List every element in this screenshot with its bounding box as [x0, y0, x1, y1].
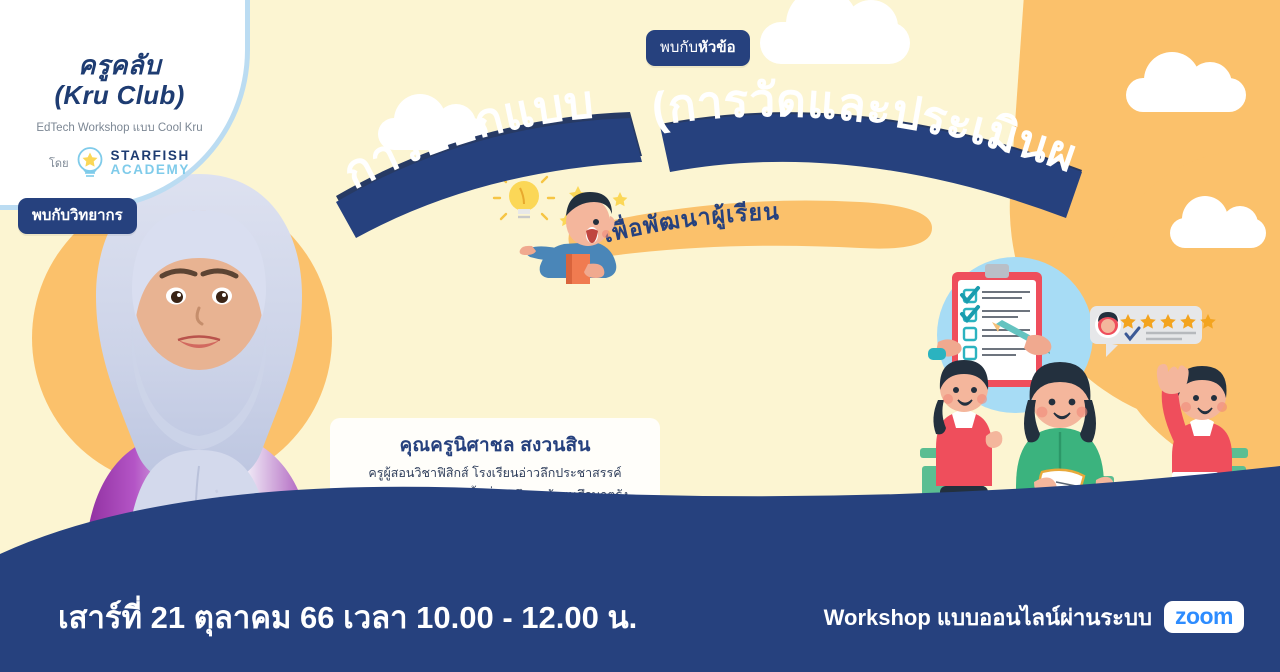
- starfish-academy-logo: โดย STARFISH ACADEMY: [49, 146, 190, 179]
- starfish-logo-line2: ACADEMY: [111, 163, 190, 177]
- main-title-svg: การออกแบบ (การวัดและประเมินผล): [330, 78, 1090, 228]
- footer-platform-group: Workshop แบบออนไลน์ผ่านระบบ zoom: [824, 600, 1244, 635]
- kru-club-title: ครูคลับ (Kru Club): [54, 51, 184, 111]
- kru-club-title-line2: (Kru Club): [54, 81, 184, 111]
- speaker-badge: พบกับวิทยากร: [18, 198, 137, 234]
- by-label: โดย: [49, 154, 69, 172]
- review-rating-card: [1090, 306, 1216, 357]
- speaker-name: คุณครูนิศาชล สงวนสิน: [346, 430, 644, 460]
- cloud-icon: [1170, 218, 1266, 248]
- online-label: Workshop แบบออนไลน์ผ่านระบบ: [824, 600, 1152, 635]
- topic-badge-prefix: พบกับ: [660, 39, 698, 56]
- zoom-logo-text: zoom: [1175, 605, 1233, 628]
- kru-club-title-line1: ครูคลับ: [54, 51, 184, 81]
- footer-bar: เสาร์ที่ 21 ตุลาคม 66 เวลา 10.00 - 12.00…: [0, 572, 1280, 672]
- lightbulb-star-icon: [75, 146, 105, 179]
- topic-badge-bold: หัวข้อ: [698, 39, 736, 56]
- promo-banner: ครูคลับ (Kru Club) EdTech Workshop แบบ C…: [0, 0, 1280, 672]
- main-title: การออกแบบ (การวัดและประเมินผล): [330, 78, 1090, 228]
- kru-club-subtitle: EdTech Workshop แบบ Cool Kru: [36, 119, 202, 137]
- zoom-logo-badge: zoom: [1164, 601, 1244, 633]
- cloud-icon: [760, 22, 910, 64]
- event-date-time: เสาร์ที่ 21 ตุลาคม 66 เวลา 10.00 - 12.00…: [58, 592, 637, 642]
- cloud-icon: [1126, 78, 1246, 112]
- topic-badge: พบกับหัวข้อ: [646, 30, 750, 66]
- starfish-logo-line1: STARFISH: [111, 149, 190, 163]
